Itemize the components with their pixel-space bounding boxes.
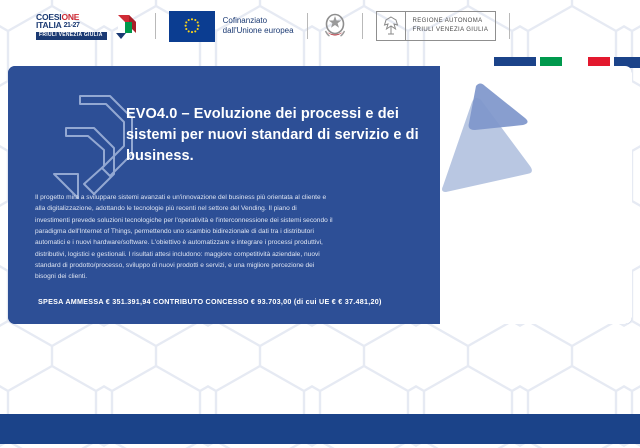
project-description: Il progetto mira a sviluppare sistemi av… <box>35 192 333 283</box>
logo-divider <box>362 13 363 39</box>
coesione-line2: ITALIA 21-27 <box>36 21 79 30</box>
coesione-text-block: COESIONE ITALIA 21-27 FRIULI VENEZIA GIU… <box>36 13 107 40</box>
logo-divider <box>509 13 510 39</box>
fvg-eagle-mark <box>377 12 406 40</box>
fvg-caption: REGIONE AUTONOMA FRIULI VENEZIA GIULIA <box>406 12 496 40</box>
logo-divider <box>307 13 308 39</box>
poster-page: COESIONE ITALIA 21-27 FRIULI VENEZIA GIU… <box>0 0 640 448</box>
coesione-years: 21-27 <box>64 22 80 29</box>
logo-divider <box>155 13 156 39</box>
coesione-word-one: ONE <box>61 12 79 22</box>
coesione-region-badge: FRIULI VENEZIA GIULIA <box>36 32 107 40</box>
overlapping-triangles-graphic <box>412 74 537 199</box>
project-title: EVO4.0 – Evoluzione dei processi e dei s… <box>126 104 426 167</box>
logo-coesione-italia: COESIONE ITALIA 21-27 FRIULI VENEZIA GIU… <box>36 11 142 41</box>
logo-european-union: Cofinanziato dall'Unione europea <box>169 11 294 42</box>
logo-regione-fvg: REGIONE AUTONOMA FRIULI VENEZIA GIULIA <box>376 11 497 41</box>
footer-bar <box>0 414 640 444</box>
coesione-italia-arrow-mark <box>112 11 142 41</box>
european-union-flag <box>169 11 215 42</box>
italian-republic-emblem <box>321 10 349 42</box>
coesione-word-italia: ITALIA <box>36 21 62 30</box>
eu-caption-line2: dall'Unione europea <box>223 26 294 36</box>
institutional-logo-bar: COESIONE ITALIA 21-27 FRIULI VENEZIA GIU… <box>0 0 640 52</box>
eu-caption-line1: Cofinanziato <box>223 16 294 26</box>
fvg-caption-line1: REGIONE AUTONOMA <box>413 17 489 26</box>
funding-figures: SPESA AMMESSA € 351.391,94 CONTRIBUTO CO… <box>38 297 382 306</box>
fvg-caption-line2: FRIULI VENEZIA GIULIA <box>413 26 489 35</box>
project-panel: EVO4.0 – Evoluzione dei processi e dei s… <box>8 66 632 324</box>
eu-caption: Cofinanziato dall'Unione europea <box>223 16 294 37</box>
